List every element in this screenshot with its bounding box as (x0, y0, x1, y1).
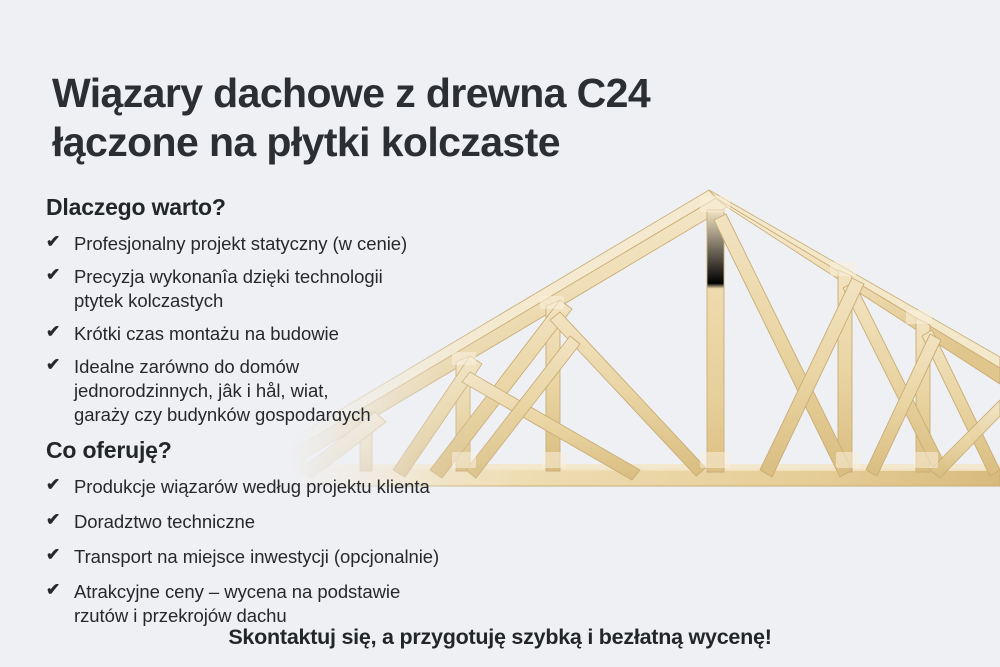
list-item-text: Atrakcyjne ceny – wycena na podstawie rz… (74, 580, 576, 628)
list-item-text: Transport na miejsce inwestycji (opcjona… (74, 545, 576, 569)
poster-content: Wiązary dachowe z drewna C24 łączone na … (0, 0, 1000, 667)
list-item-line: Krótki czas montażu na budowie (74, 322, 576, 346)
benefits-list: ✔ Profesjonalny projekt statyczny (w cen… (46, 232, 576, 427)
list-item-line: ptytek kolczastych (74, 289, 576, 313)
list-item-line: Transport na miejsce inwestycji (opcjona… (74, 545, 576, 569)
check-icon: ✔ (46, 544, 60, 566)
check-icon: ✔ (46, 509, 60, 531)
list-item-line: Precyzja wykonanîa dzięki technologii (74, 265, 576, 289)
list-item: ✔ Krótki czas montażu na budowie (46, 322, 576, 346)
list-item-line: Profesjonalny projekt statyczny (w cenie… (74, 232, 576, 256)
list-item: ✔ Profesjonalny projekt statyczny (w cen… (46, 232, 576, 256)
list-item: ✔ Transport na miejsce inwestycji (opcjo… (46, 545, 576, 569)
list-item: ✔ Precyzja wykonanîa dzięki technologii … (46, 265, 576, 313)
list-item: ✔ Atrakcyjne ceny – wycena na podstawie … (46, 580, 576, 628)
check-icon: ✔ (46, 474, 60, 496)
list-item: ✔ Idealne zarówno do domów jednorodzinny… (46, 355, 576, 427)
list-item-text: Precyzja wykonanîa dzięki technologii pt… (74, 265, 576, 313)
list-item-text: Doradztwo techniczne (74, 510, 576, 534)
list-item-line: Idealne zarówno do domów (74, 355, 576, 379)
list-item-text: Produkcje wiązarów według projektu klien… (74, 475, 576, 499)
section-co-oferuje: Co oferuję? ✔ Produkcje wiązarów według … (46, 437, 576, 639)
list-item: ✔ Produkcje wiązarów według projektu kli… (46, 475, 576, 499)
check-icon: ✔ (46, 579, 60, 601)
page-title-line-1: Wiązary dachowe z drewna C24 (52, 69, 952, 117)
list-item-line: garaży czy budynków gospodarɑych (74, 403, 576, 427)
check-icon: ✔ (46, 354, 60, 376)
check-icon: ✔ (46, 321, 60, 343)
page-title-line-2: łączone na płytki kolczaste (52, 118, 952, 166)
list-item-text: Krótki czas montażu na budowie (74, 322, 576, 346)
list-item-line: Produkcje wiązarów według projektu klien… (74, 475, 576, 499)
section-heading-1: Co oferuję? (46, 437, 576, 465)
section-dlaczego-warto: Dlaczego warto? ✔ Profesjonalny projekt … (46, 194, 576, 436)
page-title: Wiązary dachowe z drewna C24 łączone na … (52, 69, 952, 166)
check-icon: ✔ (46, 264, 60, 286)
list-item-line: Atrakcyjne ceny – wycena na podstawie (74, 580, 576, 604)
list-item: ✔ Doradztwo techniczne (46, 510, 576, 534)
call-to-action: Skontaktuj się, a przygotuję szybką i be… (0, 625, 1000, 650)
list-item-text: Profesjonalny projekt statyczny (w cenie… (74, 232, 576, 256)
section-heading-0: Dlaczego warto? (46, 194, 576, 222)
list-item-text: Idealne zarówno do domów jednorodzinnych… (74, 355, 576, 427)
check-icon: ✔ (46, 231, 60, 253)
list-item-line: Doradztwo techniczne (74, 510, 576, 534)
offer-list: ✔ Produkcje wiązarów według projektu kli… (46, 475, 576, 628)
poster-canvas: Wiązary dachowe z drewna C24 łączone na … (0, 0, 1000, 667)
list-item-line: jednorodzinnych, jâk i hål, wiat, (74, 379, 576, 403)
